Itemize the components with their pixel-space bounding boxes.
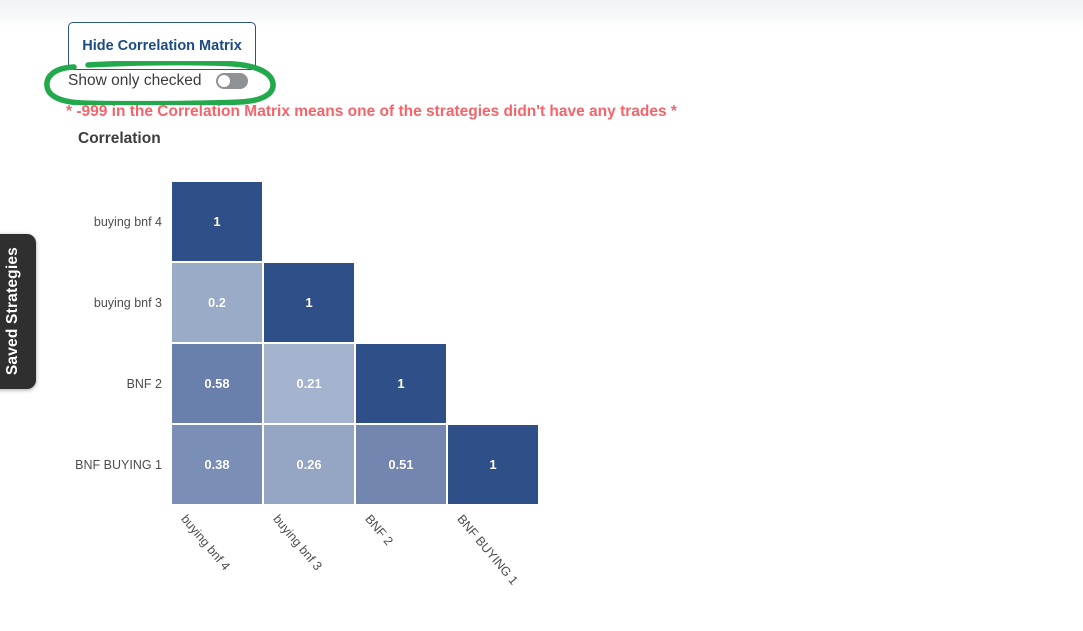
heatmap-cell-empty: [355, 262, 447, 343]
heatmap-cell[interactable]: 0.58: [171, 343, 263, 424]
show-only-checked-label: Show only checked: [68, 72, 202, 90]
heatmap-y-axis: buying bnf 4 buying bnf 3 BNF 2 BNF BUYI…: [40, 181, 162, 505]
table-row: 0.38 0.26 0.51 1: [171, 424, 539, 505]
heatmap-cell-empty: [447, 181, 539, 262]
heatmap-cell[interactable]: 1: [355, 343, 447, 424]
y-tick-label: BNF BUYING 1: [40, 424, 162, 505]
x-tick-label: BNF BUYING 1: [454, 512, 521, 588]
show-only-checked-row: Show only checked: [68, 72, 248, 90]
heatmap-cell[interactable]: 1: [447, 424, 539, 505]
correlation-heatmap: buying bnf 4 buying bnf 3 BNF 2 BNF BUYI…: [0, 0, 1083, 631]
heatmap-cell[interactable]: 0.26: [263, 424, 355, 505]
heatmap-cell-empty: [447, 262, 539, 343]
y-tick-label: BNF 2: [40, 343, 162, 424]
saved-strategies-tab[interactable]: Saved Strategies: [0, 234, 36, 389]
heatmap-cell[interactable]: 0.51: [355, 424, 447, 505]
heatmap-x-axis: buying bnf 4 buying bnf 3 BNF 2 BNF BUYI…: [171, 512, 551, 622]
heatmap-cell[interactable]: 1: [263, 262, 355, 343]
heatmap-cell-empty: [263, 181, 355, 262]
table-row: 0.2 1: [171, 262, 539, 343]
table-row: 0.58 0.21 1: [171, 343, 539, 424]
heatmap-cell-empty: [355, 181, 447, 262]
y-tick-label: buying bnf 3: [40, 262, 162, 343]
y-tick-label: buying bnf 4: [40, 181, 162, 262]
heatmap-cell[interactable]: 1: [171, 181, 263, 262]
heatmap-cell-empty: [447, 343, 539, 424]
heatmap-cell[interactable]: 0.2: [171, 262, 263, 343]
x-tick-label: buying bnf 3: [270, 512, 325, 573]
table-row: 1: [171, 181, 539, 262]
heatmap-grid: 1 0.2 1 0.58 0.21 1 0.38 0.26 0.51 1: [171, 181, 539, 505]
toggle-knob-icon: [218, 75, 230, 87]
saved-strategies-label: Saved Strategies: [4, 247, 26, 375]
show-only-checked-toggle[interactable]: [216, 73, 248, 89]
heatmap-cell[interactable]: 0.21: [263, 343, 355, 424]
heatmap-cell[interactable]: 0.38: [171, 424, 263, 505]
x-tick-label: buying bnf 4: [178, 512, 233, 573]
x-tick-label: BNF 2: [362, 512, 396, 548]
